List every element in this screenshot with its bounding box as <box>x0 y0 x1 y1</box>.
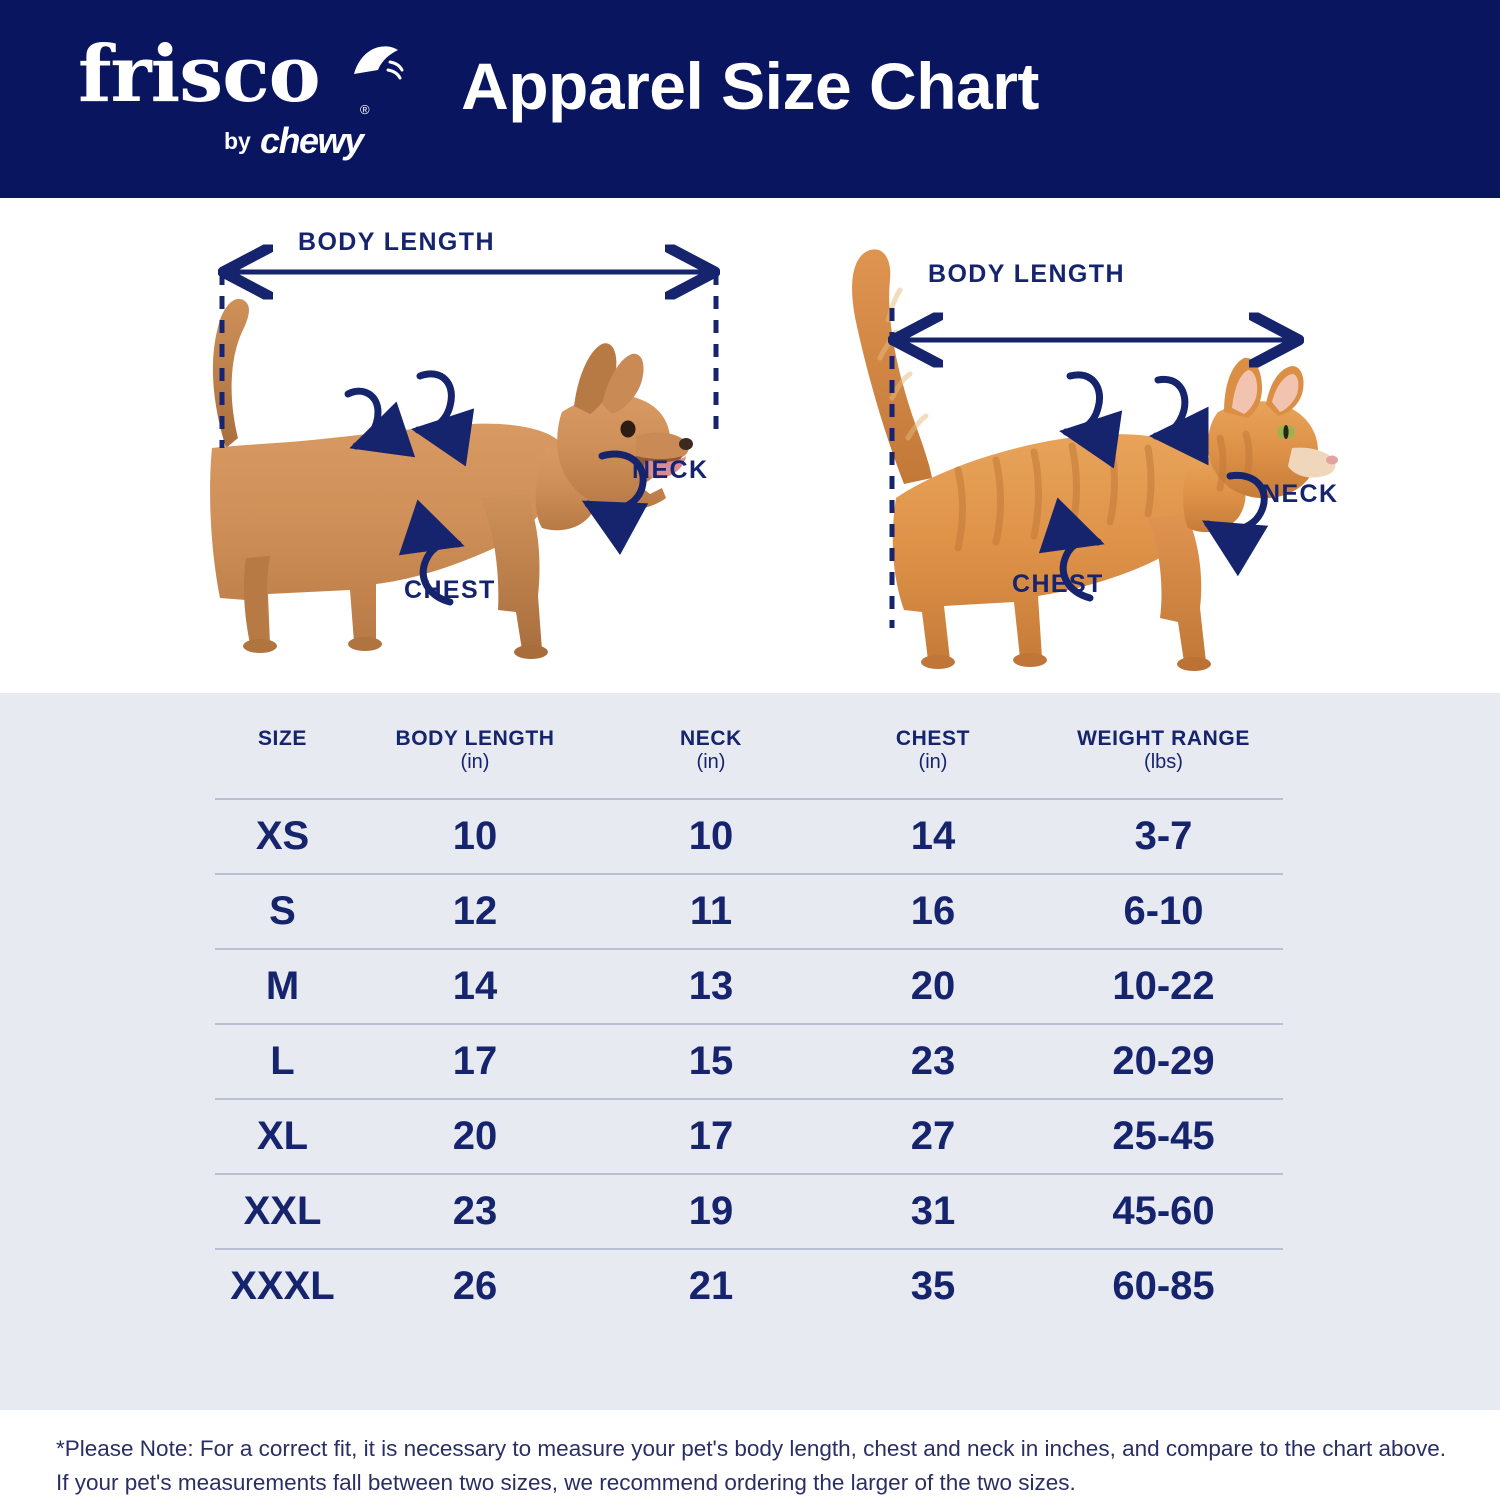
cat-diagram: BODY LENGTH NECK CHEST <box>800 198 1360 693</box>
column-header-chest: CHEST (in) <box>822 713 1044 799</box>
cell-chest: 14 <box>822 799 1044 874</box>
apparel-size-chart-page: frisco ® by chewy Apparel Size Chart <box>0 0 1500 1500</box>
cell-chest: 31 <box>822 1174 1044 1249</box>
logo-by-text: by <box>224 128 251 155</box>
chewy-wordmark: chewy <box>260 120 363 162</box>
cell-size: XS <box>215 799 350 874</box>
cell-weight-range: 3-7 <box>1044 799 1283 874</box>
dog-chest-label: CHEST <box>404 576 496 605</box>
cat-chest-arrows <box>1063 375 1185 598</box>
cell-chest: 23 <box>822 1024 1044 1099</box>
cell-weight-range: 6-10 <box>1044 874 1283 949</box>
cell-body-length: 12 <box>350 874 600 949</box>
apparel-size-table: SIZE BODY LENGTH (in) NECK (in) CHEST (i… <box>215 713 1283 1323</box>
footnote-text: *Please Note: For a correct fit, it is n… <box>56 1432 1448 1500</box>
cell-body-length: 10 <box>350 799 600 874</box>
table-row: M 14 13 20 10-22 <box>215 949 1283 1024</box>
page-title: Apparel Size Chart <box>0 48 1500 124</box>
dog-body-length-label: BODY LENGTH <box>298 228 495 257</box>
cat-body-shape <box>852 249 1338 671</box>
cell-neck: 13 <box>600 949 822 1024</box>
table-row: L 17 15 23 20-29 <box>215 1024 1283 1099</box>
cell-size: XXL <box>215 1174 350 1249</box>
cell-size: S <box>215 874 350 949</box>
cat-body-length-label: BODY LENGTH <box>928 260 1125 289</box>
size-table-section: SIZE BODY LENGTH (in) NECK (in) CHEST (i… <box>0 693 1500 1410</box>
column-header-neck: NECK (in) <box>600 713 822 799</box>
column-header-size: SIZE <box>215 713 350 799</box>
cell-weight-range: 10-22 <box>1044 949 1283 1024</box>
cell-size: XXXL <box>215 1249 350 1323</box>
cell-neck: 11 <box>600 874 822 949</box>
dog-body-length-measure <box>222 272 716 448</box>
cell-neck: 17 <box>600 1099 822 1174</box>
cell-size: XL <box>215 1099 350 1174</box>
cell-body-length: 26 <box>350 1249 600 1323</box>
dog-illustration-and-annotations <box>150 198 770 693</box>
table-row: XXL 23 19 31 45-60 <box>215 1174 1283 1249</box>
cell-chest: 27 <box>822 1099 1044 1174</box>
column-header-body-length: BODY LENGTH (in) <box>350 713 600 799</box>
cat-neck-label: NECK <box>1262 480 1338 509</box>
cell-weight-range: 20-29 <box>1044 1024 1283 1099</box>
cell-weight-range: 45-60 <box>1044 1174 1283 1249</box>
table-header-row: SIZE BODY LENGTH (in) NECK (in) CHEST (i… <box>215 713 1283 799</box>
dog-chest-arrows <box>348 374 458 602</box>
cell-neck: 10 <box>600 799 822 874</box>
cell-chest: 20 <box>822 949 1044 1024</box>
column-header-weight-range: WEIGHT RANGE (lbs) <box>1044 713 1283 799</box>
cell-body-length: 14 <box>350 949 600 1024</box>
cell-body-length: 23 <box>350 1174 600 1249</box>
dog-diagram: BODY LENGTH NECK CHEST <box>150 198 770 693</box>
cell-body-length: 17 <box>350 1024 600 1099</box>
cell-neck: 19 <box>600 1174 822 1249</box>
cell-weight-range: 25-45 <box>1044 1099 1283 1174</box>
cell-neck: 15 <box>600 1024 822 1099</box>
cat-chest-label: CHEST <box>1012 570 1104 599</box>
table-row: XL 20 17 27 25-45 <box>215 1099 1283 1174</box>
table-row: S 12 11 16 6-10 <box>215 874 1283 949</box>
cell-chest: 35 <box>822 1249 1044 1323</box>
dog-neck-label: NECK <box>632 456 708 485</box>
cell-body-length: 20 <box>350 1099 600 1174</box>
cell-neck: 21 <box>600 1249 822 1323</box>
cell-chest: 16 <box>822 874 1044 949</box>
cell-size: L <box>215 1024 350 1099</box>
table-row: XS 10 10 14 3-7 <box>215 799 1283 874</box>
page-header: frisco ® by chewy Apparel Size Chart <box>0 0 1500 198</box>
measurement-illustrations: BODY LENGTH NECK CHEST <box>0 198 1500 693</box>
cell-size: M <box>215 949 350 1024</box>
cat-neck-arrow <box>1208 475 1264 530</box>
table-row: XXXL 26 21 35 60-85 <box>215 1249 1283 1323</box>
cell-weight-range: 60-85 <box>1044 1249 1283 1323</box>
